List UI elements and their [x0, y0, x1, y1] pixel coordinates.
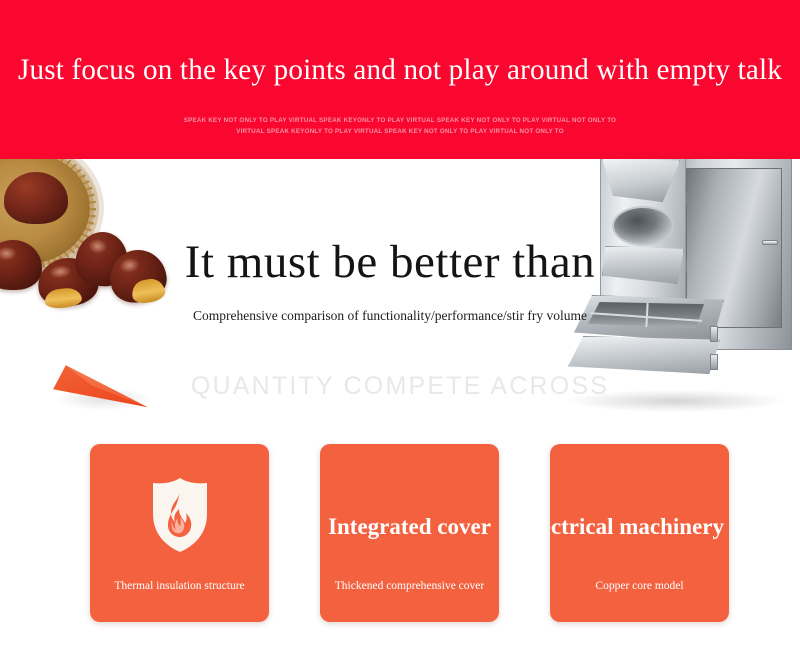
feature-card-title: Electrical machinery: [550, 512, 729, 542]
feature-card-caption: Thermal insulation structure: [90, 578, 269, 594]
feature-card-thermal-insulation[interactable]: Thermal insulation structure: [90, 444, 269, 622]
banner-subtitle-line-2: VIRTUAL SPEAK KEYONLY TO PLAY VIRTUAL SP…: [100, 126, 700, 137]
red-banner: Just focus on the key points and not pla…: [0, 0, 800, 159]
product-promo-poster: Just focus on the key points and not pla…: [0, 0, 800, 651]
banner-headline: Just focus on the key points and not pla…: [12, 52, 788, 88]
chestnut-in-burr: [4, 172, 68, 224]
banner-subtitle-line-1: SPEAK KEY NOT ONLY TO PLAY VIRTUAL SPEAK…: [100, 115, 700, 126]
orange-triangle-shape: [50, 358, 155, 418]
feature-card-integrated-cover[interactable]: Integrated cover Thickened comprehensive…: [320, 444, 499, 622]
roasting-machine-photo: [560, 140, 800, 440]
banner-subtitle: SPEAK KEY NOT ONLY TO PLAY VIRTUAL SPEAK…: [100, 115, 700, 137]
feature-card-caption: Thickened comprehensive cover: [320, 578, 499, 594]
feature-card-electrical-machinery[interactable]: Electrical machinery Copper core model: [550, 444, 729, 622]
machine-lower-tray: [568, 336, 720, 374]
shield-flame-icon: [147, 476, 213, 554]
hero-subheadline: Comprehensive comparison of functionalit…: [0, 307, 780, 325]
machine-tray-latch: [710, 354, 718, 370]
machine-tray-latch: [710, 326, 718, 342]
feature-card-caption: Copper core model: [550, 578, 729, 594]
feature-card-title: Integrated cover: [320, 512, 499, 542]
feature-card-list: Thermal insulation structure Integrated …: [0, 444, 800, 624]
machine-shadow: [568, 390, 783, 412]
hero-headline: It must be better than: [0, 234, 780, 290]
